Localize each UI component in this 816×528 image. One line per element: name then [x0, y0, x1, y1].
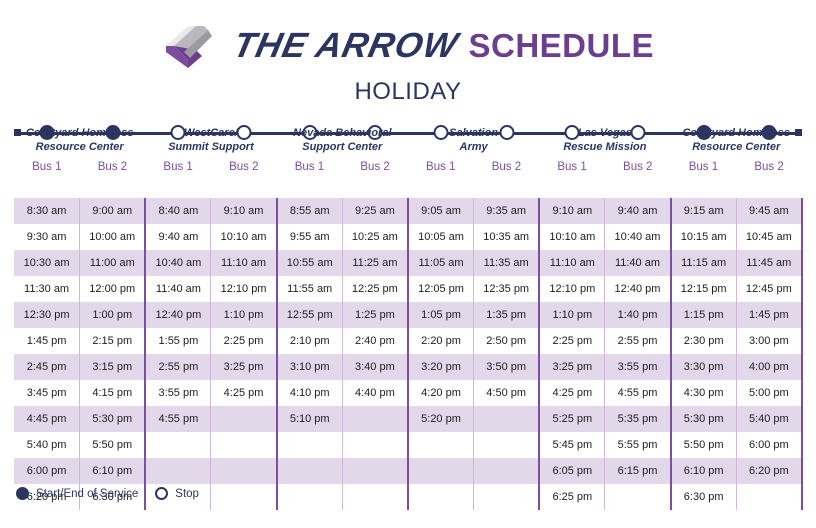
schedule-cell: 3:20 pm [408, 354, 474, 380]
schedule-cell: 11:45 am [736, 250, 802, 276]
schedule-cell: 11:00 am [80, 250, 146, 276]
schedule-cell: 10:15 am [671, 224, 737, 250]
schedule-cell: 11:40 am [145, 276, 211, 302]
schedule-cell: 4:55 pm [605, 380, 671, 406]
schedule-cell [211, 406, 277, 432]
schedule-cell: 2:45 pm [14, 354, 80, 380]
schedule-cell [277, 458, 343, 484]
schedule-cell: 4:55 pm [145, 406, 211, 432]
bus-header-s3-b2: Bus 2 [342, 158, 408, 178]
bus-header-s2-b1: Bus 1 [145, 158, 211, 178]
schedule-cell: 2:20 pm [408, 328, 474, 354]
route-spacer-row [14, 178, 802, 198]
schedule-cell: 10:10 am [539, 224, 605, 250]
schedule-cell: 10:30 am [14, 250, 80, 276]
station-name-line1: Salvation [410, 127, 537, 140]
schedule-cell [211, 484, 277, 510]
schedule-cell: 1:05 pm [408, 302, 474, 328]
page-header: THE ARROW SCHEDULE [0, 0, 816, 70]
schedule-cell: 11:10 am [539, 250, 605, 276]
schedule-cell: 5:55 pm [605, 432, 671, 458]
schedule-cell: 12:40 pm [145, 302, 211, 328]
schedule-cell [211, 432, 277, 458]
schedule-cell: 9:05 am [408, 198, 474, 224]
route-spacer-cell [14, 178, 802, 198]
station-name-line1: WestCare/ [147, 127, 274, 140]
schedule-cell: 5:50 pm [80, 432, 146, 458]
schedule-cell: 11:15 am [671, 250, 737, 276]
table-row: 10:30 am11:00 am10:40 am11:10 am10:55 am… [14, 250, 802, 276]
schedule-cell [211, 458, 277, 484]
station-name-line2: Support Center [279, 141, 406, 154]
table-row: 4:45 pm5:30 pm4:55 pm5:10 pm5:20 pm5:25 … [14, 406, 802, 432]
schedule-cell: 1:45 pm [14, 328, 80, 354]
schedule-cell: 4:50 pm [474, 380, 540, 406]
station-name-line1: Courtyard Homeless [16, 127, 143, 140]
station-header-1: Courtyard HomelessResource Center [14, 124, 145, 158]
schedule-cell [474, 484, 540, 510]
schedule-cell: 2:55 pm [145, 354, 211, 380]
legend-start-end-label: Start/End of Service [36, 488, 138, 500]
schedule-cell: 6:10 pm [671, 458, 737, 484]
schedule-cell: 5:35 pm [605, 406, 671, 432]
schedule-cell: 10:45 am [736, 224, 802, 250]
legend: Start/End of Service Stop [16, 487, 199, 500]
schedule-cell: 5:50 pm [671, 432, 737, 458]
schedule-cell: 12:25 pm [342, 276, 408, 302]
schedule-cell: 8:55 am [277, 198, 343, 224]
station-header-5: Las VegasRescue Mission [539, 124, 670, 158]
schedule-cell: 9:55 am [277, 224, 343, 250]
schedule-cell: 12:10 pm [539, 276, 605, 302]
schedule-page: THE ARROW SCHEDULE HOLIDAY Courtyard Hom… [0, 0, 816, 528]
schedule-cell: 5:40 pm [14, 432, 80, 458]
schedule-cell: 3:25 pm [211, 354, 277, 380]
schedule-cell: 2:55 pm [605, 328, 671, 354]
schedule-cell: 5:30 pm [671, 406, 737, 432]
bus-header-row: Bus 1Bus 2Bus 1Bus 2Bus 1Bus 2Bus 1Bus 2… [14, 158, 802, 178]
bus-header-s3-b1: Bus 1 [277, 158, 343, 178]
schedule-cell [408, 484, 474, 510]
schedule-cell [474, 458, 540, 484]
station-name-line2: Summit Support [147, 141, 274, 154]
schedule-cell [277, 484, 343, 510]
schedule-cell: 5:40 pm [736, 406, 802, 432]
schedule-cell: 3:55 pm [145, 380, 211, 406]
bus-header-s2-b2: Bus 2 [211, 158, 277, 178]
schedule-cell: 6:20 pm [736, 458, 802, 484]
schedule-cell [342, 406, 408, 432]
schedule-cell [342, 432, 408, 458]
bus-header-s6-b1: Bus 1 [671, 158, 737, 178]
schedule-cell: 6:00 pm [14, 458, 80, 484]
schedule-cell: 9:45 am [736, 198, 802, 224]
station-name-line2: Army [410, 141, 537, 154]
schedule-cell: 6:25 pm [539, 484, 605, 510]
table-row: 6:00 pm6:10 pm6:05 pm6:15 pm6:10 pm6:20 … [14, 458, 802, 484]
station-name-line2: Resource Center [673, 141, 800, 154]
schedule-cell: 6:05 pm [539, 458, 605, 484]
schedule-cell: 2:40 pm [342, 328, 408, 354]
schedule-cell: 9:15 am [671, 198, 737, 224]
schedule-cell: 12:05 pm [408, 276, 474, 302]
schedule-cell: 5:20 pm [408, 406, 474, 432]
schedule-cell [408, 432, 474, 458]
schedule-cell: 2:25 pm [211, 328, 277, 354]
schedule-cell: 6:30 pm [671, 484, 737, 510]
schedule-cell: 9:10 am [211, 198, 277, 224]
schedule-cell: 2:15 pm [80, 328, 146, 354]
station-header-4: SalvationArmy [408, 124, 539, 158]
schedule-cell: 4:40 pm [342, 380, 408, 406]
schedule-cell: 3:25 pm [539, 354, 605, 380]
station-header-3: Nevada BehavioralSupport Center [277, 124, 408, 158]
schedule-cell: 4:25 pm [211, 380, 277, 406]
schedule-cell: 10:40 am [605, 224, 671, 250]
schedule-cell [342, 458, 408, 484]
schedule-cell: 6:10 pm [80, 458, 146, 484]
station-name-line1: Nevada Behavioral [279, 127, 406, 140]
schedule-table-body: 8:30 am9:00 am8:40 am9:10 am8:55 am9:25 … [14, 198, 802, 510]
schedule-cell [277, 432, 343, 458]
schedule-cell: 3:50 pm [474, 354, 540, 380]
bus-header-s5-b1: Bus 1 [539, 158, 605, 178]
schedule-cell: 11:05 am [408, 250, 474, 276]
schedule-cell: 2:30 pm [671, 328, 737, 354]
schedule-cell: 6:15 pm [605, 458, 671, 484]
schedule-cell [408, 458, 474, 484]
schedule-cell: 8:30 am [14, 198, 80, 224]
schedule-cell: 12:00 pm [80, 276, 146, 302]
schedule-cell: 6:00 pm [736, 432, 802, 458]
schedule-cell: 11:40 am [605, 250, 671, 276]
schedule-cell: 3:40 pm [342, 354, 408, 380]
schedule-cell: 10:05 am [408, 224, 474, 250]
the-arrow-logo-icon [162, 22, 224, 70]
schedule-cell: 1:55 pm [145, 328, 211, 354]
schedule-cell: 1:45 pm [736, 302, 802, 328]
schedule-cell: 9:30 am [14, 224, 80, 250]
table-row: 12:30 pm1:00 pm12:40 pm1:10 pm12:55 pm1:… [14, 302, 802, 328]
schedule-cell [736, 484, 802, 510]
schedule-cell: 3:30 pm [671, 354, 737, 380]
schedule-table-head: Courtyard HomelessResource CenterWestCar… [14, 124, 802, 198]
station-header-2: WestCare/Summit Support [145, 124, 276, 158]
schedule-cell: 10:25 am [342, 224, 408, 250]
schedule-cell [474, 432, 540, 458]
schedule-table-wrapper: Courtyard HomelessResource CenterWestCar… [14, 124, 802, 510]
schedule-cell: 4:20 pm [408, 380, 474, 406]
open-circle-icon [155, 487, 168, 500]
bus-header-s4-b2: Bus 2 [474, 158, 540, 178]
schedule-cell: 2:10 pm [277, 328, 343, 354]
schedule-cell: 1:15 pm [671, 302, 737, 328]
schedule-cell: 12:45 pm [736, 276, 802, 302]
schedule-cell [605, 484, 671, 510]
schedule-cell: 3:15 pm [80, 354, 146, 380]
schedule-cell: 11:10 am [211, 250, 277, 276]
legend-stop-label: Stop [175, 488, 199, 500]
schedule-cell: 4:00 pm [736, 354, 802, 380]
schedule-title: SCHEDULE [468, 27, 654, 65]
schedule-subtitle: HOLIDAY [0, 78, 816, 106]
schedule-cell: 2:50 pm [474, 328, 540, 354]
schedule-cell: 12:30 pm [14, 302, 80, 328]
schedule-cell: 5:45 pm [539, 432, 605, 458]
schedule-cell: 9:40 am [605, 198, 671, 224]
schedule-cell: 1:10 pm [539, 302, 605, 328]
schedule-cell: 12:35 pm [474, 276, 540, 302]
station-name-line2: Resource Center [16, 141, 143, 154]
schedule-cell: 11:30 am [14, 276, 80, 302]
schedule-cell: 5:30 pm [80, 406, 146, 432]
schedule-cell: 9:00 am [80, 198, 146, 224]
schedule-cell: 1:35 pm [474, 302, 540, 328]
schedule-cell: 9:25 am [342, 198, 408, 224]
schedule-cell: 10:55 am [277, 250, 343, 276]
schedule-cell: 5:25 pm [539, 406, 605, 432]
station-name-line1: Courtyard Homeless [673, 127, 800, 140]
schedule-cell: 12:55 pm [277, 302, 343, 328]
schedule-cell [474, 406, 540, 432]
filled-circle-icon [16, 487, 29, 500]
schedule-cell: 9:10 am [539, 198, 605, 224]
table-row: 2:45 pm3:15 pm2:55 pm3:25 pm3:10 pm3:40 … [14, 354, 802, 380]
schedule-cell: 9:40 am [145, 224, 211, 250]
schedule-cell: 11:35 am [474, 250, 540, 276]
schedule-cell: 3:55 pm [605, 354, 671, 380]
station-name-line2: Rescue Mission [541, 141, 668, 154]
bus-header-s1-b1: Bus 1 [14, 158, 80, 178]
station-name-line1: Las Vegas [541, 127, 668, 140]
bus-header-s4-b1: Bus 1 [408, 158, 474, 178]
bus-header-s6-b2: Bus 2 [736, 158, 802, 178]
schedule-cell: 12:15 pm [671, 276, 737, 302]
schedule-cell: 4:25 pm [539, 380, 605, 406]
schedule-cell: 1:00 pm [80, 302, 146, 328]
schedule-cell: 2:25 pm [539, 328, 605, 354]
table-row: 9:30 am10:00 am9:40 am10:10 am9:55 am10:… [14, 224, 802, 250]
schedule-cell: 9:35 am [474, 198, 540, 224]
table-row: 8:30 am9:00 am8:40 am9:10 am8:55 am9:25 … [14, 198, 802, 224]
schedule-cell: 11:55 am [277, 276, 343, 302]
schedule-cell: 5:10 pm [277, 406, 343, 432]
schedule-cell: 10:00 am [80, 224, 146, 250]
schedule-cell: 4:10 pm [277, 380, 343, 406]
bus-header-s1-b2: Bus 2 [80, 158, 146, 178]
schedule-cell: 8:40 am [145, 198, 211, 224]
schedule-cell: 1:25 pm [342, 302, 408, 328]
table-row: 5:40 pm5:50 pm5:45 pm5:55 pm5:50 pm6:00 … [14, 432, 802, 458]
schedule-cell [342, 484, 408, 510]
table-row: 11:30 am12:00 pm11:40 am12:10 pm11:55 am… [14, 276, 802, 302]
schedule-cell: 4:30 pm [671, 380, 737, 406]
schedule-cell: 12:40 pm [605, 276, 671, 302]
schedule-table: Courtyard HomelessResource CenterWestCar… [14, 124, 803, 510]
schedule-cell: 1:10 pm [211, 302, 277, 328]
schedule-cell: 10:35 am [474, 224, 540, 250]
station-header-row: Courtyard HomelessResource CenterWestCar… [14, 124, 802, 158]
bus-header-s5-b2: Bus 2 [605, 158, 671, 178]
schedule-cell: 11:25 am [342, 250, 408, 276]
schedule-cell: 10:10 am [211, 224, 277, 250]
schedule-cell: 5:00 pm [736, 380, 802, 406]
schedule-cell: 10:40 am [145, 250, 211, 276]
table-row: 1:45 pm2:15 pm1:55 pm2:25 pm2:10 pm2:40 … [14, 328, 802, 354]
schedule-cell: 4:15 pm [80, 380, 146, 406]
schedule-cell [145, 458, 211, 484]
schedule-cell [145, 432, 211, 458]
brand-title: THE ARROW [230, 26, 462, 66]
schedule-cell: 3:10 pm [277, 354, 343, 380]
station-header-6: Courtyard HomelessResource Center [671, 124, 802, 158]
schedule-cell: 4:45 pm [14, 406, 80, 432]
schedule-cell: 12:10 pm [211, 276, 277, 302]
schedule-cell: 1:40 pm [605, 302, 671, 328]
schedule-cell: 3:00 pm [736, 328, 802, 354]
table-row: 3:45 pm4:15 pm3:55 pm4:25 pm4:10 pm4:40 … [14, 380, 802, 406]
schedule-cell: 3:45 pm [14, 380, 80, 406]
